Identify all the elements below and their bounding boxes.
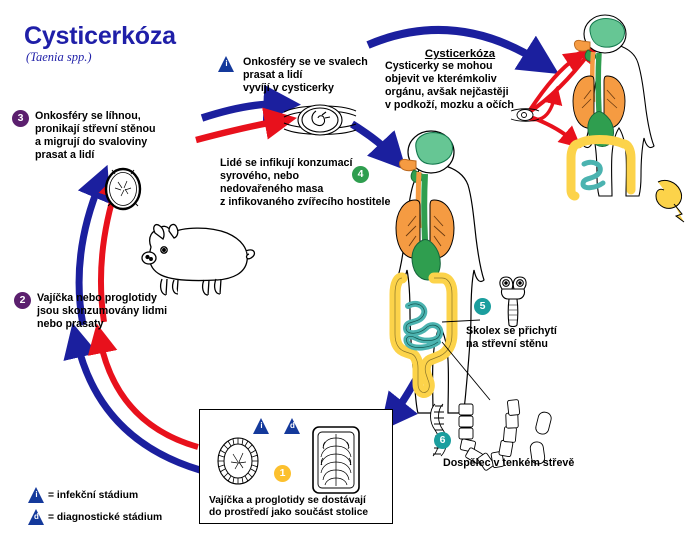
step-6-badge: 6 bbox=[434, 432, 451, 449]
legend: i = infekční stádium d = diagnostické st… bbox=[28, 487, 162, 525]
stool-box: i d 1 bbox=[199, 409, 393, 524]
scolex-illustration bbox=[494, 275, 532, 327]
cysticercus-in-muscle-illustration bbox=[282, 96, 358, 144]
colon-top-right bbox=[578, 140, 624, 145]
arrow-step3-to-cysticercus-blue bbox=[202, 104, 280, 118]
stool-box-stage-icons: i d bbox=[253, 418, 301, 434]
human-anatomy-main-illustration bbox=[368, 128, 498, 413]
brain-organ-right bbox=[590, 19, 625, 48]
step-1-badge: 1 bbox=[274, 465, 291, 482]
cysticercosis-heading: Cysticerkóza bbox=[385, 48, 535, 60]
infective-stage-triangle-icon: i bbox=[28, 487, 45, 503]
mouth-orange-right bbox=[574, 40, 590, 51]
diagnostic-stage-triangle-icon: d bbox=[28, 509, 45, 525]
cysticercosis-callout: Cysticerkóza Cysticerky se mohou objevit… bbox=[385, 48, 535, 112]
step-3-badge: 3 bbox=[12, 110, 29, 127]
arrow-step3-to-cysticercus-red bbox=[196, 121, 279, 140]
cysticercosis-text: Cysticerky se mohou objevit ve kterémkol… bbox=[385, 60, 535, 112]
stool-box-caption: Vajíčka a proglotidy se dostávají do pro… bbox=[209, 495, 368, 520]
diagnostic-stage-triangle-icon: d bbox=[284, 418, 301, 434]
taenia-egg-illustration bbox=[215, 436, 261, 486]
mouth-orange bbox=[399, 159, 416, 170]
step-3-text: Onkosféry se líhnou, pronikají střevní s… bbox=[35, 110, 156, 162]
legend-diagnostic-label: = diagnostické stádium bbox=[48, 512, 162, 523]
brain-organ bbox=[416, 133, 453, 165]
infective-stage-triangle-icon: i bbox=[253, 418, 270, 434]
step-3: 3 Onkosféry se líhnou, pronikají střevní… bbox=[12, 110, 156, 162]
pig-illustration bbox=[133, 217, 255, 297]
oncosphere-callout-text: Onkosféry se ve svalech prasat a lidí vy… bbox=[243, 56, 368, 95]
step-2-text: Vajíčka nebo proglotidy jsou skonzumován… bbox=[37, 292, 167, 331]
arrow-stoolbox-to-step2-blue bbox=[77, 342, 200, 470]
proglottid-illustration bbox=[310, 424, 362, 496]
step-6-text: Dospělec v tenkém střevě bbox=[443, 457, 574, 470]
cysticercus-small-illustration bbox=[510, 106, 540, 124]
legend-diagnostic-row: d = diagnostické stádium bbox=[28, 509, 162, 525]
step-2-badge: 2 bbox=[14, 292, 31, 309]
infective-stage-triangle-icon: i bbox=[218, 56, 235, 72]
lifecycle-diagram: Cysticerkóza (Taenia spp.) bbox=[0, 0, 700, 533]
small-intestine-organ-right bbox=[583, 162, 603, 187]
step-2: 2 Vajíčka nebo proglotidy jsou skonzumov… bbox=[14, 292, 167, 331]
esophagus-tube bbox=[424, 174, 425, 240]
legend-infective-row: i = infekční stádium bbox=[28, 487, 162, 503]
step-5-badge: 5 bbox=[474, 298, 491, 315]
arrow-stoolbox-to-step2-red bbox=[100, 340, 198, 447]
legend-infective-label: = infekční stádium bbox=[48, 490, 138, 501]
esophagus-tube-right bbox=[598, 53, 599, 112]
step-4-badge: 4 bbox=[352, 166, 369, 183]
oncosphere-egg-illustration bbox=[103, 166, 143, 212]
oncosphere-callout: i Onkosféry se ve svalech prasat a lidí … bbox=[218, 56, 368, 95]
step-5-text: Skolex se přichytí na střevní stěnu bbox=[466, 325, 557, 351]
organ-fragment-illustration bbox=[652, 176, 698, 222]
human-anatomy-right-illustration bbox=[548, 18, 668, 196]
